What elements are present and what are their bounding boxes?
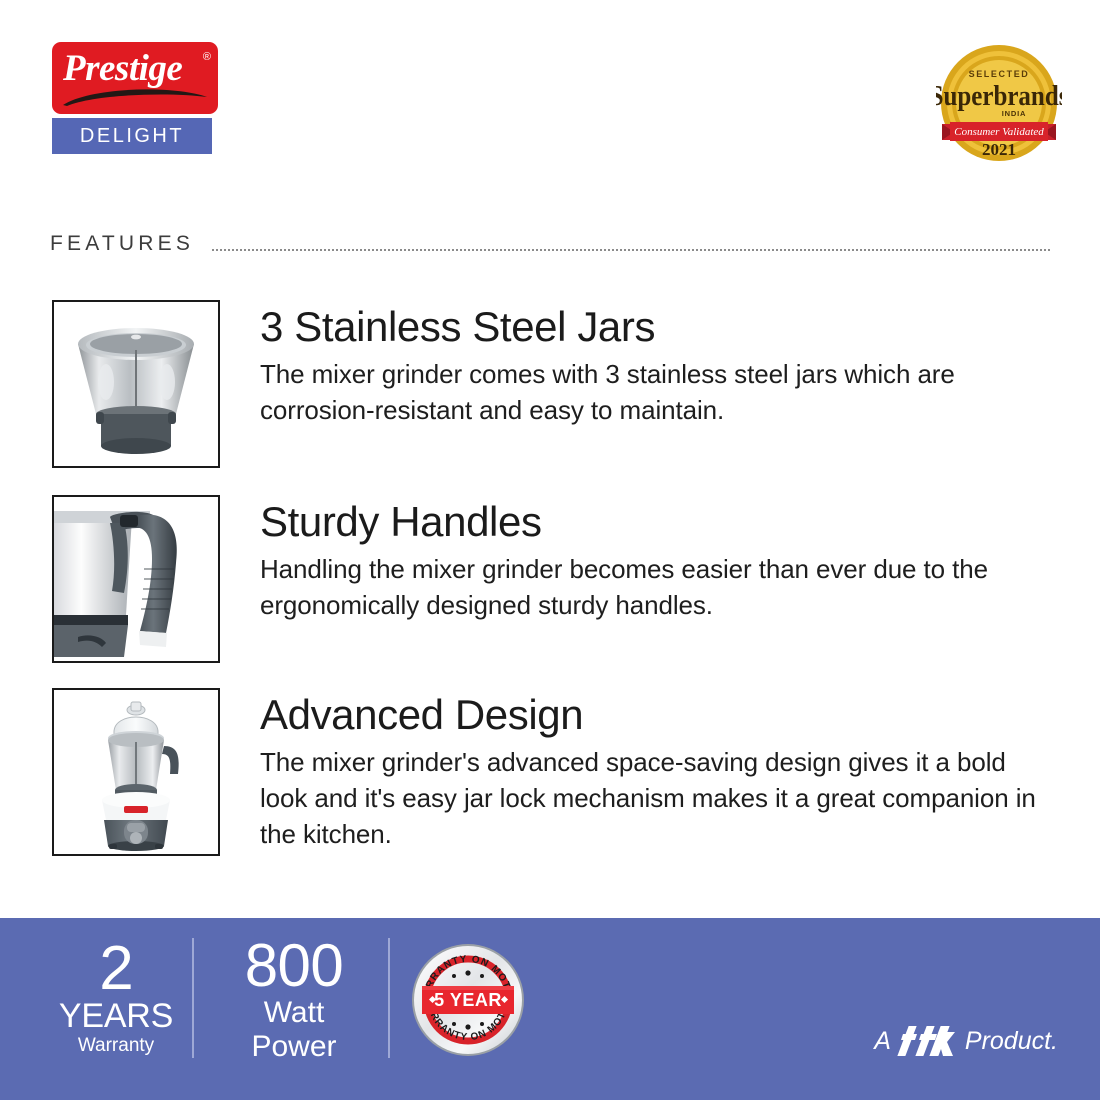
power-label: Power (210, 1030, 378, 1064)
jar-handle-icon (52, 495, 220, 663)
feature-title: Sturdy Handles (260, 497, 1052, 547)
banner-divider (192, 938, 194, 1058)
registered-trademark-icon: ® (203, 51, 211, 63)
superbrands-seal-icon: SELECTED Superbrands INDIA Consumer Vali… (936, 40, 1062, 166)
product-feature-graphic: Prestige ® DELIGHT (0, 0, 1100, 1100)
svg-text:Superbrands: Superbrands (936, 80, 1062, 112)
feature-text: 3 Stainless Steel Jars The mixer grinder… (260, 300, 1052, 428)
svg-text:5 YEAR: 5 YEAR (434, 990, 502, 1010)
feature-body: Handling the mixer grinder becomes easie… (260, 551, 1052, 623)
power-unit: Watt (210, 996, 378, 1030)
feature-text: Sturdy Handles Handling the mixer grinde… (260, 495, 1052, 623)
svg-text:2021: 2021 (982, 140, 1016, 159)
svg-text:Consumer Validated: Consumer Validated (954, 126, 1044, 138)
svg-text:INDIA: INDIA (1002, 109, 1026, 118)
delight-subbrand-bar: DELIGHT (52, 118, 212, 154)
prestige-logo-block: Prestige ® (52, 42, 218, 114)
feature-item: Sturdy Handles Handling the mixer grinde… (52, 495, 1052, 663)
power-spec: 800 Watt Power (210, 936, 378, 1064)
motor-warranty-badge-icon: WARRANTY ON MOTOR WARRANTY ON MOTOR 5 YE… (410, 942, 526, 1058)
svg-text:SELECTED: SELECTED (969, 69, 1030, 79)
ttk-prefix: A (874, 1027, 891, 1056)
power-value: 800 (210, 936, 378, 996)
feature-item: 3 Stainless Steel Jars The mixer grinder… (52, 300, 1052, 468)
stainless-steel-jar-icon (52, 300, 220, 468)
delight-label: DELIGHT (80, 125, 184, 148)
ttk-logo-icon (897, 1024, 959, 1058)
warranty-spec: 2 YEARS Warranty (46, 940, 186, 1058)
feature-title: Advanced Design (260, 690, 1052, 740)
header: Prestige ® DELIGHT (0, 0, 1100, 200)
ttk-suffix: Product. (965, 1027, 1058, 1056)
warranty-value: 2 (46, 940, 186, 998)
prestige-logo: Prestige ® DELIGHT (52, 42, 218, 114)
feature-item: Advanced Design The mixer grinder's adva… (52, 688, 1052, 856)
feature-text: Advanced Design The mixer grinder's adva… (260, 688, 1052, 852)
feature-title: 3 Stainless Steel Jars (260, 302, 1052, 352)
banner-divider (388, 938, 390, 1058)
feature-body: The mixer grinder's advanced space-savin… (260, 744, 1052, 852)
warranty-unit: YEARS (46, 998, 186, 1034)
mixer-grinder-icon (52, 688, 220, 856)
ttk-product-footer: A Product. (874, 1024, 1058, 1058)
features-heading: FEATURES (50, 228, 1050, 260)
feature-body: The mixer grinder comes with 3 stainless… (260, 356, 1052, 428)
dotted-divider (212, 249, 1050, 251)
warranty-sublabel: Warranty (46, 1034, 186, 1058)
swoosh-icon (61, 81, 209, 107)
features-label: FEATURES (50, 232, 194, 256)
